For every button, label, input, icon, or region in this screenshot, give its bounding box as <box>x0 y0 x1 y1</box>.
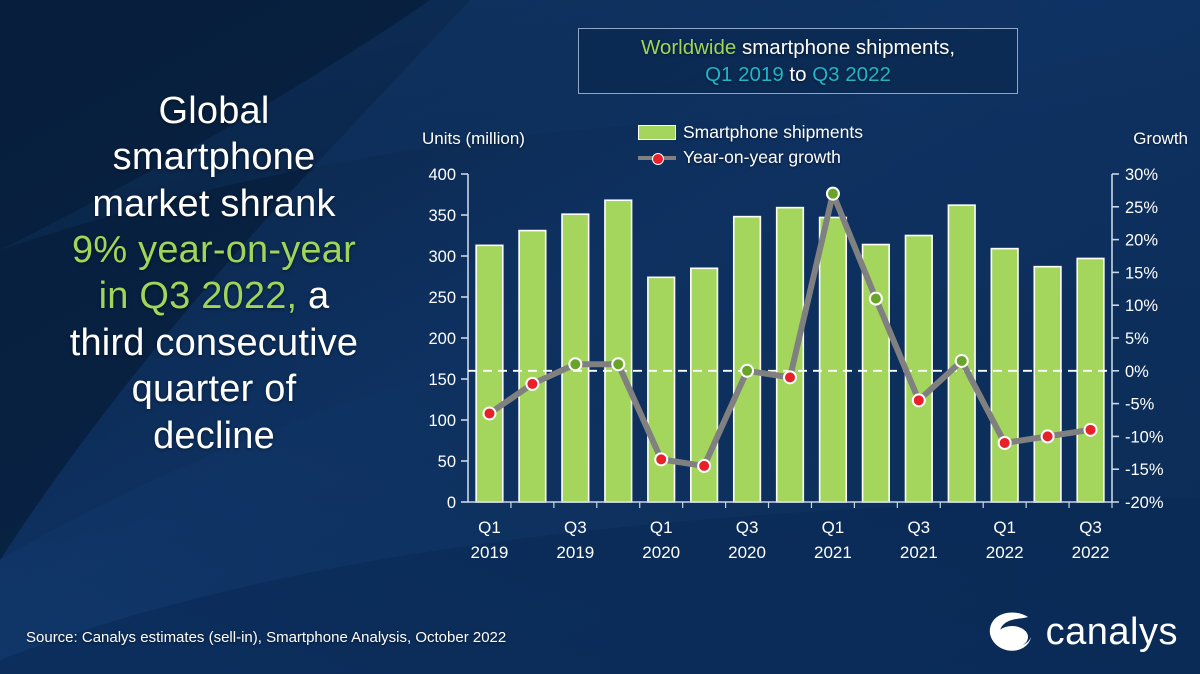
source-note: Source: Canalys estimates (sell-in), Sma… <box>26 629 506 646</box>
right-axis-tick-label: 30% <box>1125 166 1158 184</box>
x-axis-year-label: 2020 <box>728 543 766 562</box>
x-axis-year-label: 2021 <box>900 543 938 562</box>
legend-item-shipments: Smartphone shipments <box>638 120 863 145</box>
chart-container: Units (million) Growth Smartphone shipme… <box>410 120 1190 580</box>
bar <box>820 217 847 502</box>
chart-legend: Smartphone shipments Year-on-year growth <box>638 120 863 170</box>
headline-line-5: in Q3 2022, a <box>18 273 410 319</box>
bar <box>948 205 975 502</box>
right-axis-tick-label: -10% <box>1125 428 1164 446</box>
headline-line-7: quarter of <box>18 366 410 412</box>
bar <box>605 200 632 502</box>
x-axis-quarter-label: Q3 <box>564 518 587 537</box>
legend-label-shipments: Smartphone shipments <box>683 122 863 143</box>
bar <box>519 231 546 502</box>
left-axis-tick-label: 400 <box>428 166 456 184</box>
growth-data-point <box>870 293 882 305</box>
right-axis-tick-label: 5% <box>1125 330 1149 348</box>
bar <box>905 236 932 503</box>
left-axis-tick-label: 0 <box>447 494 456 512</box>
category-labels: Q12019Q32019Q12020Q32020Q12021Q32021Q120… <box>468 502 1112 562</box>
left-axis: 050100150200250300350400 <box>428 166 468 512</box>
right-axis-tick-label: -15% <box>1125 461 1164 479</box>
x-axis-year-label: 2022 <box>986 543 1024 562</box>
right-axis-tick-label: 0% <box>1125 363 1149 381</box>
bar <box>1034 267 1061 502</box>
growth-data-point <box>999 437 1011 449</box>
bar-series <box>476 200 1104 502</box>
right-axis-tick-label: 25% <box>1125 199 1158 217</box>
right-axis-tick-label: 20% <box>1125 232 1158 250</box>
chart-title-box: Worldwide smartphone shipments, Q1 2019 … <box>578 28 1018 94</box>
growth-data-point <box>827 188 839 200</box>
left-axis-tick-label: 50 <box>438 453 456 471</box>
title-part-to: to <box>784 63 813 86</box>
right-axis-tick-label: -5% <box>1125 396 1155 414</box>
title-part-start-quarter: Q1 2019 <box>705 63 784 86</box>
growth-data-point <box>913 394 925 406</box>
headline-text: Global smartphone market shrank 9% year-… <box>18 88 410 459</box>
growth-data-point <box>956 355 968 367</box>
x-axis-quarter-label: Q3 <box>907 518 930 537</box>
growth-data-point <box>784 371 796 383</box>
right-axis-tick-label: 10% <box>1125 297 1158 315</box>
bar <box>648 277 675 502</box>
growth-data-point <box>483 407 495 419</box>
x-axis-quarter-label: Q3 <box>1079 518 1102 537</box>
canalys-wordmark: canalys <box>1046 611 1178 654</box>
right-axis-tick-label: 15% <box>1125 264 1158 282</box>
x-axis-year-label: 2022 <box>1072 543 1110 562</box>
bar <box>777 208 804 502</box>
growth-data-point <box>526 378 538 390</box>
left-axis-tick-label: 100 <box>428 412 456 430</box>
chart-title: Worldwide smartphone shipments, Q1 2019 … <box>641 34 955 88</box>
growth-data-point <box>1085 424 1097 436</box>
left-axis-tick-label: 200 <box>428 330 456 348</box>
x-axis-quarter-label: Q3 <box>736 518 759 537</box>
growth-data-point <box>741 365 753 377</box>
bar <box>476 245 503 502</box>
right-axis-tick-label: -20% <box>1125 494 1164 512</box>
title-part-shipments: smartphone shipments, <box>736 36 955 59</box>
right-axis: -20%-15%-10%-5%0%5%10%15%20%25%30% <box>1112 166 1164 512</box>
growth-data-point <box>569 358 581 370</box>
headline-line-3: market shrank <box>18 181 410 227</box>
x-axis-year-label: 2019 <box>556 543 594 562</box>
left-axis-tick-label: 250 <box>428 289 456 307</box>
left-axis-tick-label: 300 <box>428 248 456 266</box>
growth-data-point <box>1042 430 1054 442</box>
headline-line-4: 9% year-on-year <box>18 227 410 273</box>
title-part-worldwide: Worldwide <box>641 36 736 59</box>
bar <box>991 249 1018 502</box>
legend-bar-swatch-icon <box>638 125 676 140</box>
legend-line-marker-icon <box>638 150 676 165</box>
x-axis-year-label: 2019 <box>471 543 509 562</box>
legend-item-growth: Year-on-year growth <box>638 145 863 170</box>
x-axis-quarter-label: Q1 <box>650 518 673 537</box>
headline-line-1: Global <box>18 88 410 134</box>
x-axis-year-label: 2021 <box>814 543 852 562</box>
legend-label-growth: Year-on-year growth <box>683 147 841 168</box>
bar <box>1077 258 1104 502</box>
headline-line-2: smartphone <box>18 134 410 180</box>
canalys-swirl-icon <box>984 608 1040 656</box>
growth-data-point <box>612 358 624 370</box>
headline-line-5-white: a <box>297 275 329 317</box>
headline-line-8: decline <box>18 413 410 459</box>
bar <box>734 217 761 502</box>
chart-plot: 050100150200250300350400 -20%-15%-10%-5%… <box>410 120 1190 580</box>
left-axis-tick-label: 150 <box>428 371 456 389</box>
growth-data-point <box>698 460 710 472</box>
x-axis-quarter-label: Q1 <box>478 518 501 537</box>
x-axis-quarter-label: Q1 <box>822 518 845 537</box>
x-axis-year-label: 2020 <box>642 543 680 562</box>
x-axis-quarter-label: Q1 <box>993 518 1016 537</box>
left-axis-tick-label: 350 <box>428 207 456 225</box>
headline-line-6: third consecutive <box>18 320 410 366</box>
title-part-end-quarter: Q3 2022 <box>812 63 891 86</box>
canalys-logo: canalys <box>984 608 1178 656</box>
headline-line-5-green: in Q3 2022, <box>99 275 298 317</box>
growth-data-point <box>655 453 667 465</box>
